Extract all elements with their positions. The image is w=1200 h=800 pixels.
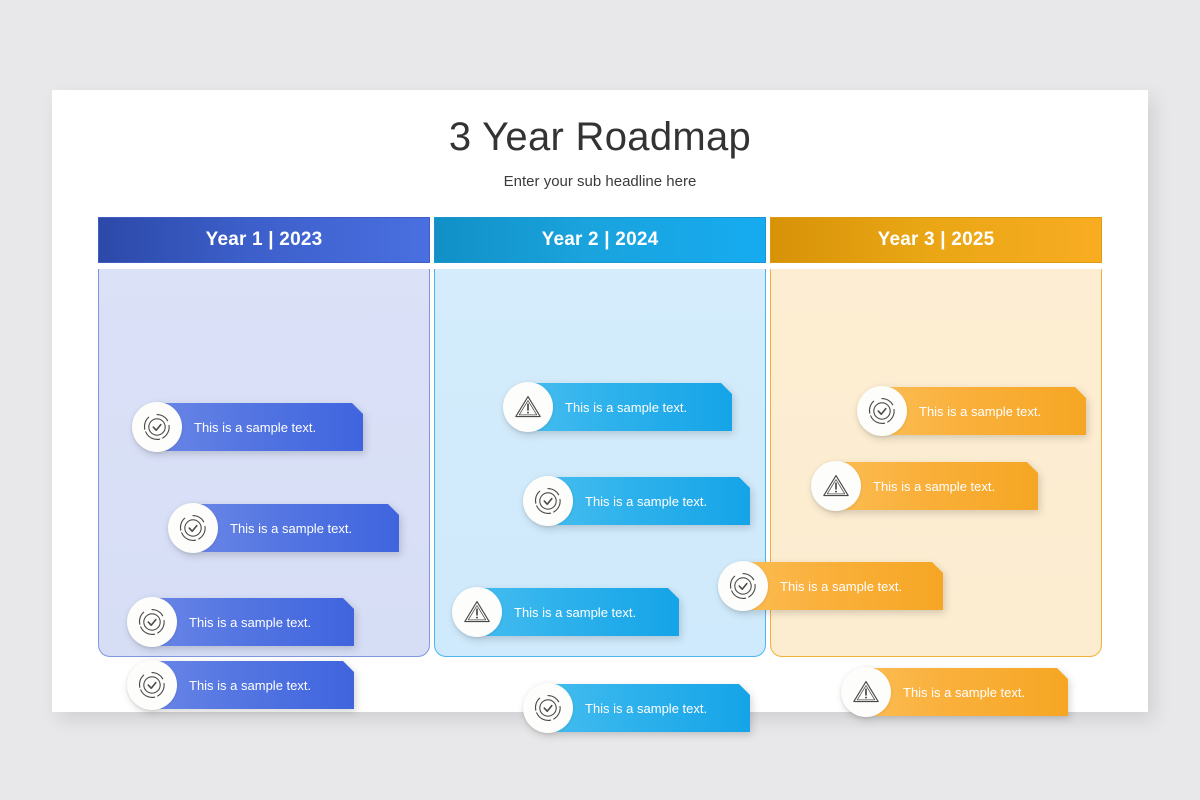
roadmap-item-label: This is a sample text. (514, 605, 636, 620)
check-circle-icon (857, 386, 907, 436)
check-circle-icon (132, 402, 182, 452)
roadmap-item-label: This is a sample text. (780, 579, 902, 594)
check-circle-icon (127, 597, 177, 647)
check-circle-icon (168, 503, 218, 553)
warning-triangle-icon (811, 461, 861, 511)
page-title: 3 Year Roadmap (52, 115, 1148, 160)
roadmap-item-label: This is a sample text. (919, 404, 1041, 419)
roadmap-item-card[interactable]: This is a sample text. (719, 562, 943, 610)
roadmap-item-label: This is a sample text. (585, 494, 707, 509)
roadmap-item-card[interactable]: This is a sample text. (842, 668, 1068, 716)
roadmap-item-label: This is a sample text. (189, 615, 311, 630)
column-header-year2[interactable]: Year 2 | 2024 (434, 217, 766, 263)
column-header-year3[interactable]: Year 3 | 2025 (770, 217, 1102, 263)
slide-canvas: 3 Year Roadmap Enter your sub headline h… (52, 90, 1148, 712)
roadmap-item-card[interactable]: This is a sample text. (169, 504, 399, 552)
page-subtitle: Enter your sub headline here (52, 173, 1148, 190)
roadmap-item-label: This is a sample text. (903, 685, 1025, 700)
check-circle-icon (718, 561, 768, 611)
roadmap-item-card[interactable]: This is a sample text. (504, 383, 732, 431)
roadmap-item-label: This is a sample text. (585, 701, 707, 716)
warning-triangle-icon (452, 587, 502, 637)
roadmap-item-card[interactable]: This is a sample text. (524, 477, 750, 525)
warning-triangle-icon (503, 382, 553, 432)
check-circle-icon (523, 476, 573, 526)
roadmap-item-label: This is a sample text. (565, 400, 687, 415)
roadmap-item-card[interactable]: This is a sample text. (812, 462, 1038, 510)
roadmap-item-card[interactable]: This is a sample text. (858, 387, 1086, 435)
warning-triangle-icon (841, 667, 891, 717)
roadmap-item-card[interactable]: This is a sample text. (128, 661, 354, 709)
roadmap-item-card[interactable]: This is a sample text. (453, 588, 679, 636)
roadmap-item-label: This is a sample text. (230, 521, 352, 536)
roadmap-item-card[interactable]: This is a sample text. (128, 598, 354, 646)
roadmap-columns: Year 1 | 2023 Year 2 | 2024 Year 3 | 202… (98, 217, 1102, 757)
check-circle-icon (127, 660, 177, 710)
roadmap-item-label: This is a sample text. (194, 420, 316, 435)
roadmap-item-label: This is a sample text. (189, 678, 311, 693)
column-header-year1[interactable]: Year 1 | 2023 (98, 217, 430, 263)
roadmap-item-card[interactable]: This is a sample text. (524, 684, 750, 732)
check-circle-icon (523, 683, 573, 733)
roadmap-item-label: This is a sample text. (873, 479, 995, 494)
roadmap-item-card[interactable]: This is a sample text. (133, 403, 363, 451)
